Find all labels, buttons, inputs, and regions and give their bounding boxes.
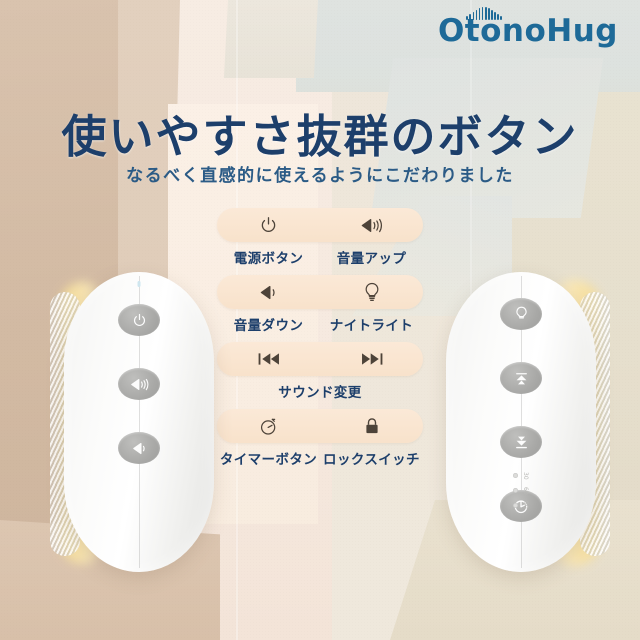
timer-indicator-label: 90 <box>522 501 529 509</box>
device-shell-back: 30 60 90 <box>446 272 596 572</box>
legend-labels: タイマーボタン ロックスイッチ <box>217 448 423 468</box>
legend-pill <box>217 409 423 443</box>
sound-machine-front <box>64 272 214 572</box>
timer-indicator: 30 <box>513 472 529 480</box>
timer-indicator-dot <box>513 473 518 478</box>
device-previous-track-button[interactable] <box>500 362 542 394</box>
legend-label: タイマーボタン <box>217 448 320 468</box>
device-next-track-button[interactable] <box>500 426 542 458</box>
legend-labels: 電源ボタン 音量アップ <box>217 247 423 267</box>
previous-track-icon <box>217 350 320 368</box>
timer-indicator: 90 <box>513 501 529 509</box>
legend-row: 音量ダウン ナイトライト <box>217 275 423 334</box>
legend-pill <box>217 275 423 309</box>
volume-down-icon <box>217 282 320 303</box>
next-track-icon <box>320 350 423 368</box>
timer-indicator-label: 60 <box>522 487 529 495</box>
legend-pill <box>217 208 423 242</box>
device-night-light-button[interactable] <box>500 298 542 330</box>
device-volume-down-button[interactable] <box>118 432 160 464</box>
legend-label: 電源ボタン <box>217 247 320 267</box>
brand-name: OtonoHug <box>438 16 618 47</box>
lock-icon <box>320 416 423 437</box>
legend-labels: 音量ダウン ナイトライト <box>217 314 423 334</box>
night-light-icon <box>320 281 423 303</box>
device-shell-front <box>64 272 214 572</box>
legend-row: タイマーボタン ロックスイッチ <box>217 409 423 468</box>
power-icon <box>217 215 320 236</box>
timer-indicator-group: 30 60 90 <box>513 472 529 509</box>
volume-up-icon <box>320 215 423 236</box>
legend-labels: サウンド変更 <box>217 381 423 401</box>
button-legend: 電源ボタン 音量アップ <box>217 208 423 476</box>
sound-machine-back: 30 60 90 <box>446 272 596 572</box>
legend-label: サウンド変更 <box>217 381 423 401</box>
timer-indicator-dot <box>513 488 518 493</box>
legend-label: ロックスイッチ <box>320 448 423 468</box>
legend-row: サウンド変更 <box>217 342 423 401</box>
timer-indicator-dot <box>513 503 518 508</box>
legend-pill <box>217 342 423 376</box>
device-power-button[interactable] <box>118 304 160 336</box>
page-title: 使いやすさ抜群のボタン <box>0 100 640 165</box>
legend-label: 音量アップ <box>320 247 423 267</box>
timer-indicator-label: 30 <box>522 472 529 480</box>
status-led <box>138 281 141 287</box>
page-subtitle: なるべく直感的に使えるようにこだわりました <box>0 161 640 186</box>
device-volume-up-button[interactable] <box>118 368 160 400</box>
legend-label: ナイトライト <box>320 314 423 334</box>
sound-wave-icon <box>466 7 502 20</box>
legend-row: 電源ボタン 音量アップ <box>217 208 423 267</box>
timer-indicator: 60 <box>513 487 529 495</box>
product-infographic: OtonoHug 使いやすさ抜群のボタン なるべく直感的に使えるようにこだわりま… <box>0 0 640 640</box>
timer-icon <box>217 415 320 437</box>
legend-label: 音量ダウン <box>217 314 320 334</box>
brand-logo: OtonoHug <box>438 16 618 47</box>
